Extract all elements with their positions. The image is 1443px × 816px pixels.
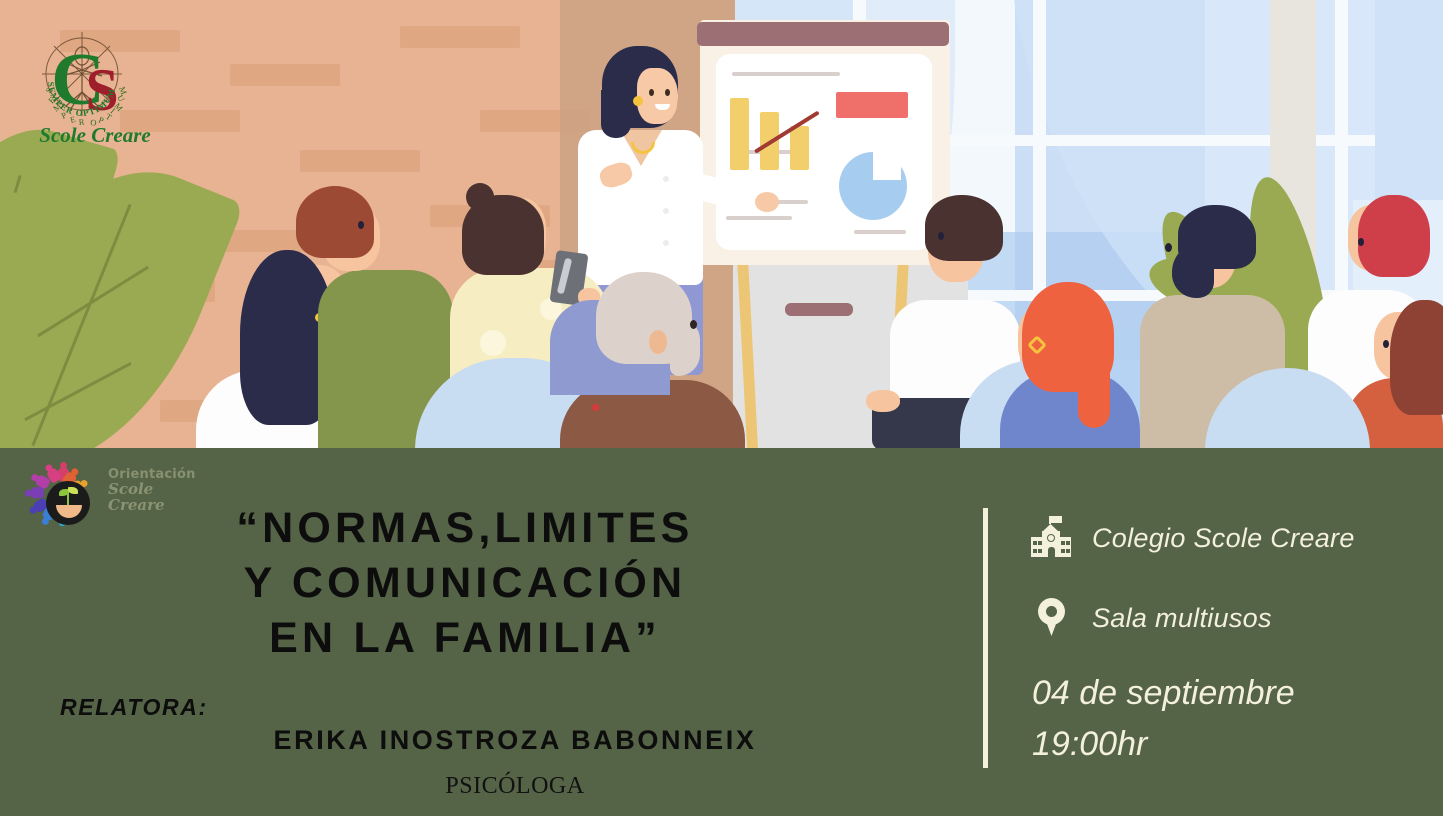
sprout-leaf xyxy=(68,487,78,494)
page-title: “NORMAS,LIMITES Y COMUNICACIÓN EN LA FAM… xyxy=(0,501,930,666)
audience-person-hair xyxy=(925,195,1003,261)
flipchart-top-bar xyxy=(697,22,949,46)
flipchart-clip xyxy=(785,303,853,316)
window xyxy=(1033,549,1037,553)
title-line-3: EN LA FAMILIA” xyxy=(0,611,930,666)
presenter-button xyxy=(663,240,669,246)
audience-person-hair xyxy=(1358,195,1430,277)
window xyxy=(1066,549,1070,553)
room-row: Sala multiusos xyxy=(1030,596,1272,640)
window xyxy=(1033,541,1037,545)
chart-red-block xyxy=(836,92,908,118)
speaker-name: ERIKA INOSTROZA BABONNEIX xyxy=(0,725,1030,756)
audience-person-eye xyxy=(938,232,944,240)
vertical-divider xyxy=(983,508,988,768)
brick xyxy=(230,64,340,86)
presenter-hand xyxy=(755,192,779,212)
speaker-label: RELATORA: xyxy=(60,694,208,721)
presenter-eye xyxy=(649,89,654,96)
school-building-icon xyxy=(1030,516,1072,560)
audience-ponytail xyxy=(1078,350,1110,428)
audience-person-eye xyxy=(690,320,697,329)
title-line-2: Y COMUNICACIÓN xyxy=(0,556,930,611)
info-band: Orientación Scole Creare “NORMAS,LIMITES… xyxy=(0,448,1443,816)
chart-bar xyxy=(790,126,809,170)
presenter-face xyxy=(637,68,678,124)
presenter-button xyxy=(663,208,669,214)
chart-bar xyxy=(730,98,749,170)
flipchart-paper xyxy=(716,54,932,250)
pie-slice-gap xyxy=(873,152,901,180)
event-datetime: 04 de septiembre 19:00hr xyxy=(1032,668,1295,770)
event-date: 04 de septiembre xyxy=(1032,668,1295,719)
audience-person-eye xyxy=(1383,340,1389,348)
building xyxy=(1375,0,1443,210)
door xyxy=(1048,547,1055,557)
clock-window xyxy=(1047,534,1055,542)
window xyxy=(1061,541,1065,545)
room-text: Sala multiusos xyxy=(1092,603,1272,634)
school-logo: C S SEMPER OPTIMUM S E M P E R O P T I xyxy=(20,18,170,146)
speaker-role: PSICÓLOGA xyxy=(0,773,1030,800)
sweater-dot xyxy=(592,404,599,411)
audience-person-eye xyxy=(1358,238,1364,246)
seminar-illustration: C S SEMPER OPTIMUM S E M P E R O P T I xyxy=(0,0,1443,448)
school-logo-svg: C S SEMPER OPTIMUM S E M P E R O P T I xyxy=(20,18,170,146)
map-pin-icon xyxy=(1030,596,1072,640)
presenter-earring xyxy=(633,96,643,106)
audience-person-eye xyxy=(358,221,364,229)
audience-person-hair xyxy=(1390,300,1443,415)
squiggle-line xyxy=(726,216,792,220)
venue-text: Colegio Scole Creare xyxy=(1092,523,1355,554)
poster-root: C S SEMPER OPTIMUM S E M P E R O P T I xyxy=(0,0,1443,816)
event-time: 19:00hr xyxy=(1032,719,1295,770)
brick xyxy=(400,26,520,48)
presenter-eye xyxy=(665,89,670,96)
brick xyxy=(300,150,420,172)
audience-hair-bun xyxy=(466,183,494,211)
school-logo-name: Scole Creare xyxy=(39,123,150,146)
title-line-1: “NORMAS,LIMITES xyxy=(0,501,930,556)
squiggle-line xyxy=(732,72,840,76)
window xyxy=(1066,541,1070,545)
squiggle-line xyxy=(854,230,906,234)
audience-ear xyxy=(649,330,667,354)
presenter-button xyxy=(663,176,669,182)
audience-person-dot xyxy=(480,330,506,356)
window xyxy=(1038,541,1042,545)
venue-row: Colegio Scole Creare xyxy=(1030,516,1355,560)
audience-person-eye xyxy=(1165,243,1172,252)
window xyxy=(1038,549,1042,553)
audience-hand xyxy=(866,390,900,412)
window xyxy=(1061,549,1065,553)
presenter-hair-back xyxy=(601,90,631,138)
